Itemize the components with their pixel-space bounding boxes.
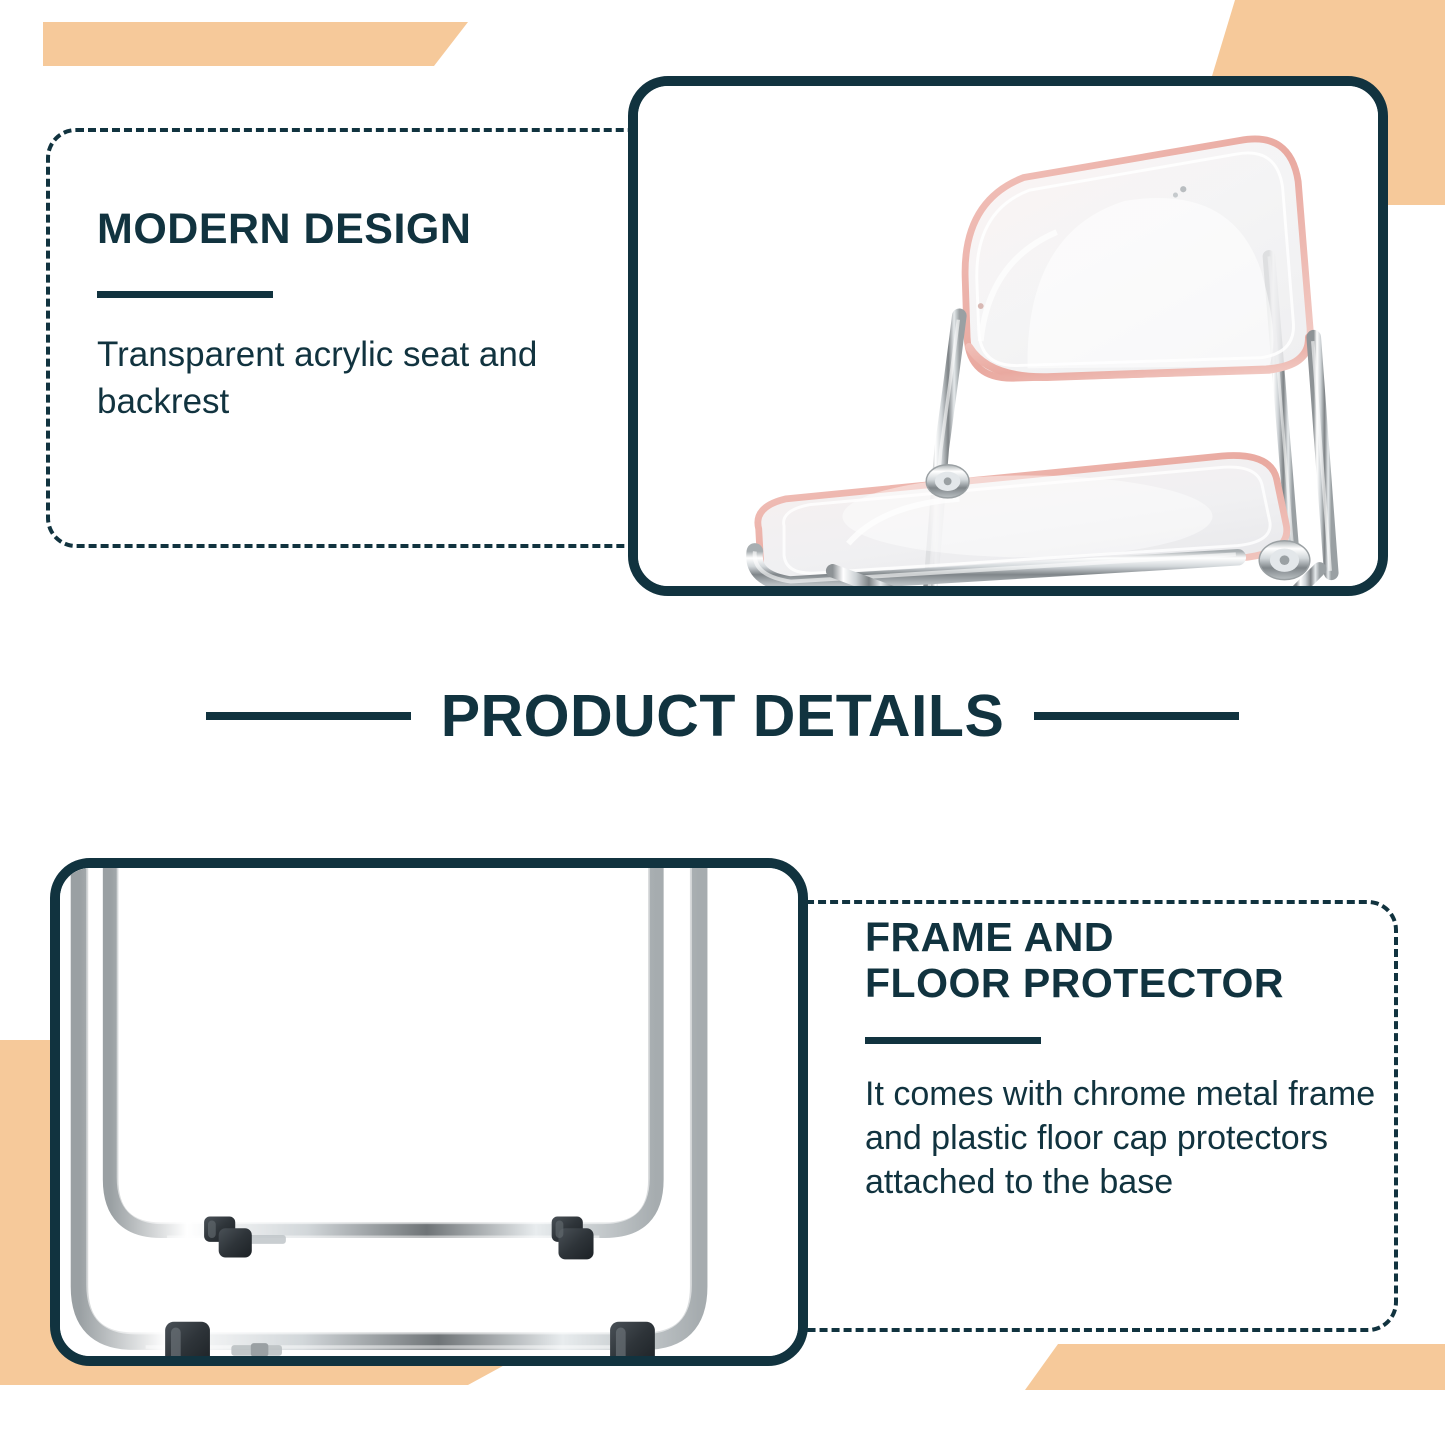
frame-title-line-1: FRAME AND <box>865 914 1114 960</box>
chair-photo-card <box>628 76 1388 596</box>
infographic-canvas: MODERN DESIGN Transparent acrylic seat a… <box>0 0 1445 1445</box>
peach-bar-top-left-icon <box>43 22 468 66</box>
chair-photo-icon <box>638 86 1378 592</box>
modern-design-text-block: MODERN DESIGN Transparent acrylic seat a… <box>97 205 617 425</box>
frame-floor-protector-title: FRAME ANDFLOOR PROTECTOR <box>865 915 1385 1007</box>
peach-bar-bottom-right-icon <box>1025 1344 1445 1390</box>
section-heading-rule-left <box>206 712 411 720</box>
modern-design-body: Transparent acrylic seat and backrest <box>97 332 617 425</box>
frame-photo-icon <box>60 868 798 1363</box>
section-heading-text: PRODUCT DETAILS <box>441 682 1005 750</box>
frame-photo-card <box>50 858 808 1366</box>
frame-floor-protector-body: It comes with chrome metal frame and pla… <box>865 1072 1385 1205</box>
frame-title-line-2: FLOOR PROTECTOR <box>865 960 1284 1006</box>
frame-floor-protector-divider <box>865 1037 1041 1044</box>
modern-design-title: MODERN DESIGN <box>97 205 617 253</box>
frame-floor-protector-text-block: FRAME ANDFLOOR PROTECTOR It comes with c… <box>865 915 1385 1204</box>
modern-design-divider <box>97 291 273 298</box>
section-heading: PRODUCT DETAILS <box>0 682 1445 750</box>
section-heading-rule-right <box>1034 712 1239 720</box>
